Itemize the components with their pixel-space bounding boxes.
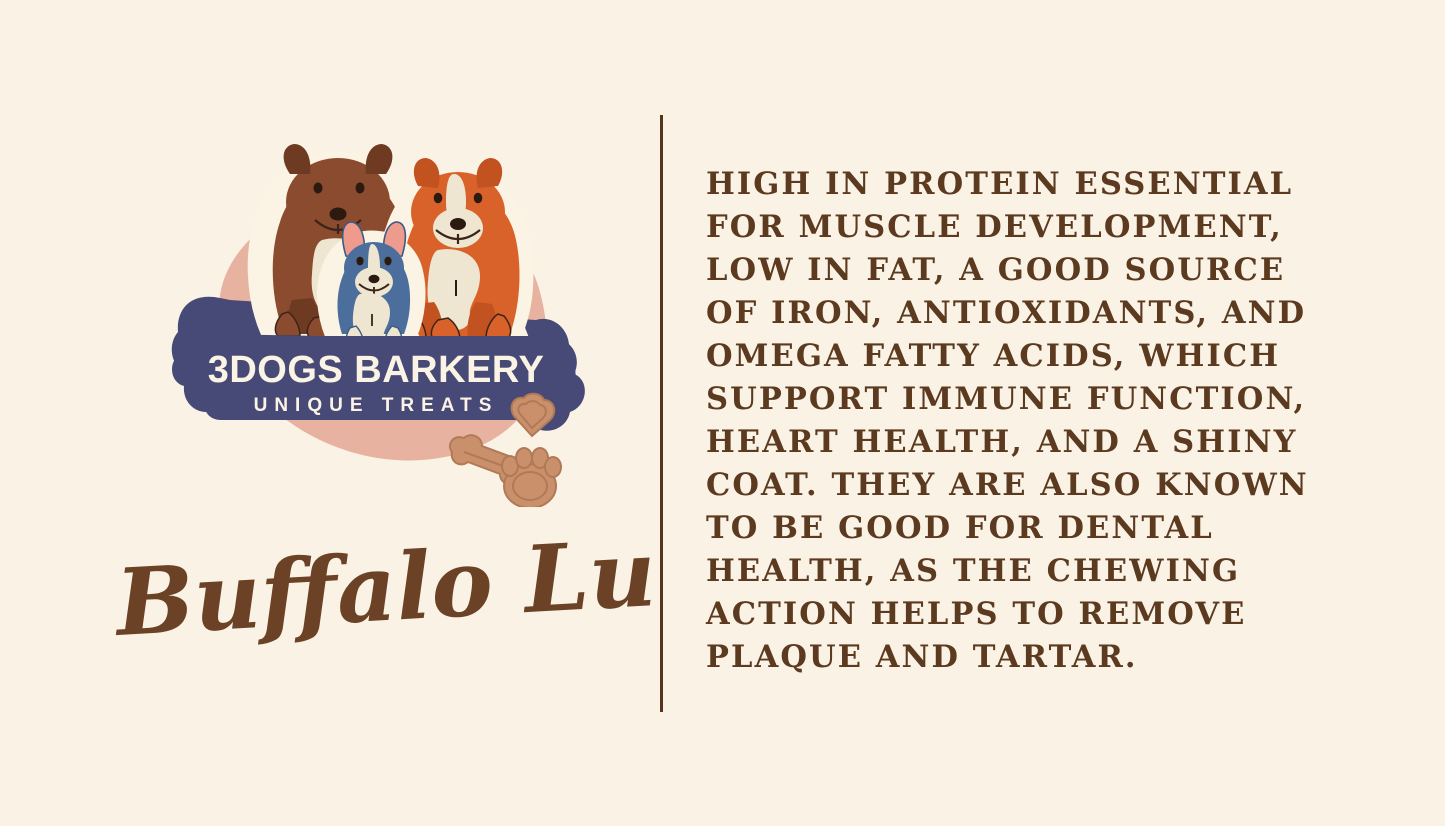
product-title-text: Buffalo Lung [112,523,652,657]
product-info-card: 3DOGS BARKERY UNIQUE TREATS [0,0,1445,826]
description-line: HEART HEALTH, AND A SHINY [706,421,1306,464]
page-title: Buffalo Lung [112,523,652,673]
description-line: TO BE GOOD FOR DENTAL [706,507,1306,550]
description-line: OMEGA FATTY ACIDS, WHICH [706,335,1306,378]
brand-logo: 3DOGS BARKERY UNIQUE TREATS [170,122,590,507]
description-line: SUPPORT IMMUNE FUNCTION, [706,378,1306,421]
brand-column: 3DOGS BARKERY UNIQUE TREATS [0,0,661,826]
paw-biscuit [502,448,561,507]
product-description: HIGH IN PROTEIN ESSENTIAL FOR MUSCLE DEV… [706,163,1306,679]
description-line: ACTION HELPS TO REMOVE [706,593,1306,636]
vertical-divider [660,115,663,712]
description-line: COAT. THEY ARE ALSO KNOWN [706,464,1306,507]
description-line: OF IRON, ANTIOXIDANTS, AND [706,292,1306,335]
logo-tagline: UNIQUE TREATS [254,395,499,416]
description-line: HEALTH, AS THE CHEWING [706,550,1306,593]
description-line: HIGH IN PROTEIN ESSENTIAL [706,163,1306,206]
description-line: FOR MUSCLE DEVELOPMENT, [706,206,1306,249]
description-line: PLAQUE AND TARTAR. [706,636,1306,679]
logo-brand-name: 3DOGS BARKERY [208,349,545,391]
description-line: LOW IN FAT, A GOOD SOURCE [706,249,1306,292]
